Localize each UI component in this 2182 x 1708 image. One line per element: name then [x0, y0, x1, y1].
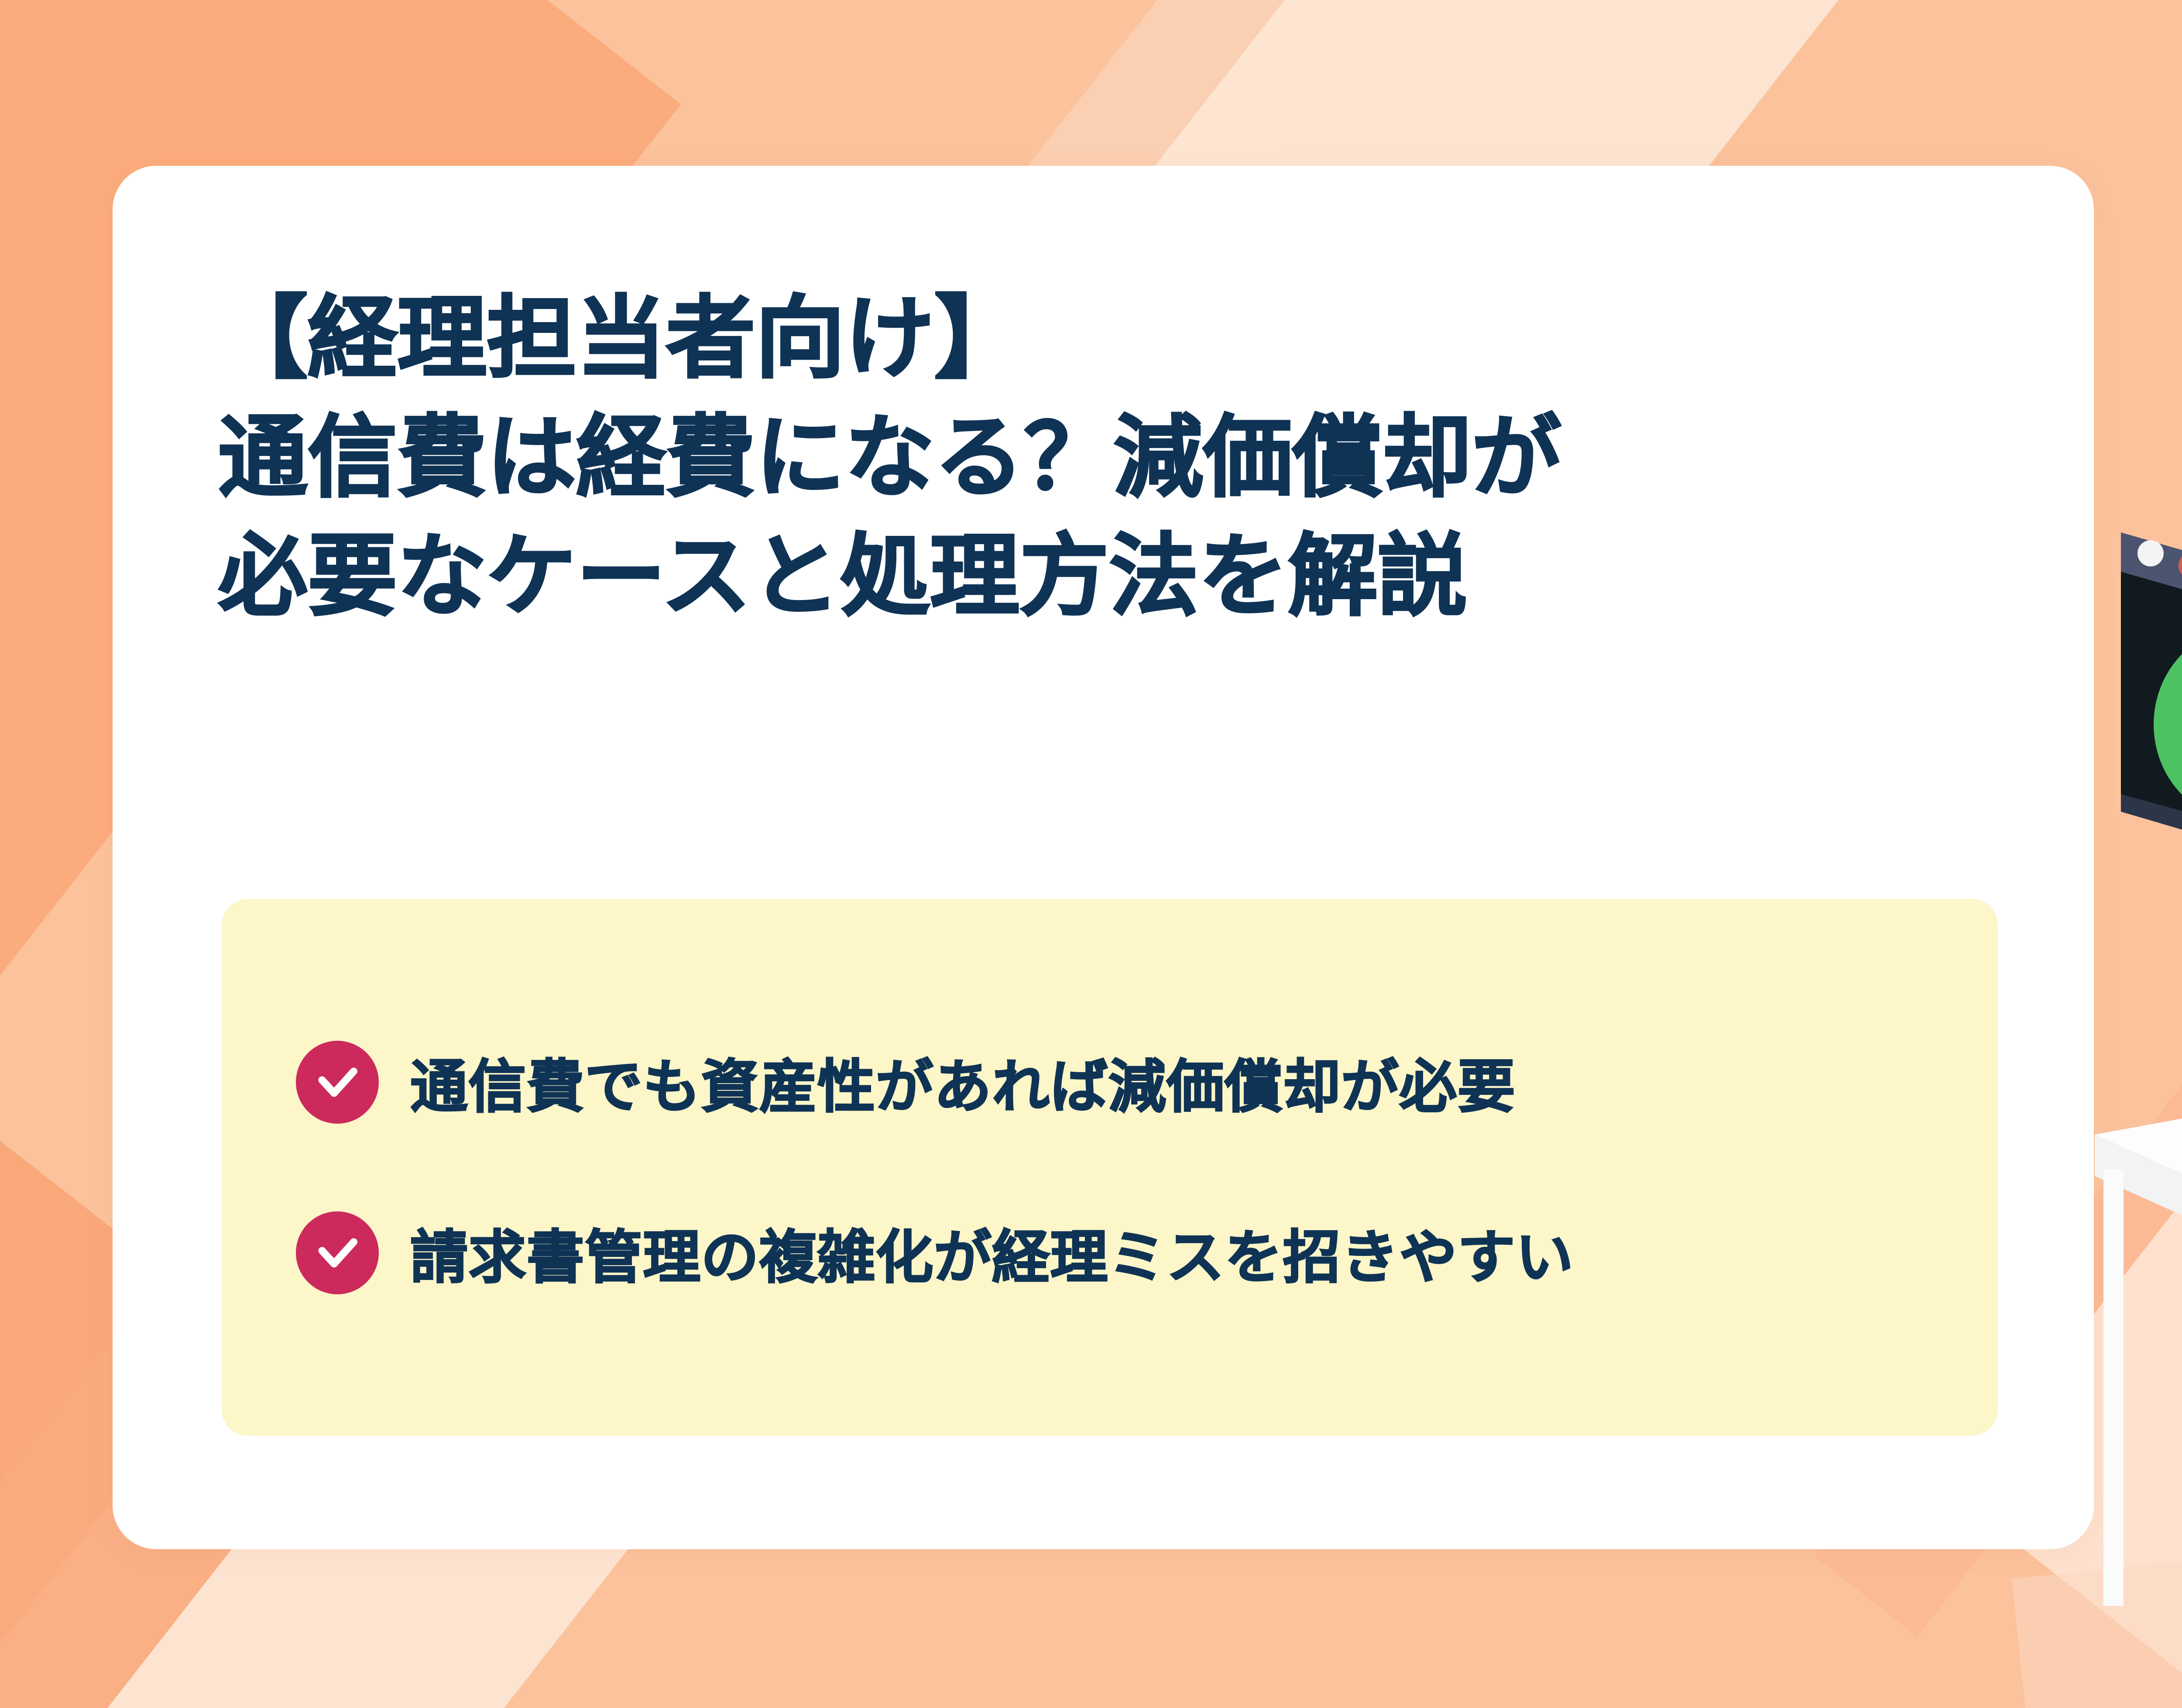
- title-line-1: 【経理担当者向け】: [218, 279, 1561, 398]
- browser-window-with-dollar-and-bar-chart: $: [2121, 532, 2182, 951]
- title-line-2: 通信費は経費になる？減価償却が: [218, 398, 1561, 518]
- list-item: 請求書管理の複雑化が経理ミスを招きやすい: [296, 1211, 1998, 1294]
- list-item-label: 通信費でも資産性があれば減価償却が必要: [410, 1040, 1516, 1124]
- desk: [2095, 1025, 2182, 1693]
- person-working-at-desk-with-cloud-upload-illustration: $: [2077, 131, 2182, 1708]
- check-circle-icon: [296, 1041, 379, 1124]
- key-points-panel: 通信費でも資産性があれば減価償却が必要 請求書管理の複雑化が経理ミスを招きやすい: [222, 899, 1998, 1436]
- page-title: 【経理担当者向け】 通信費は経費になる？減価償却が 必要なケースと処理方法を解説: [218, 279, 1561, 636]
- list-item-label: 請求書管理の複雑化が経理ミスを招きやすい: [410, 1211, 1574, 1294]
- list-item: 通信費でも資産性があれば減価償却が必要: [296, 1040, 1998, 1124]
- check-circle-icon: [296, 1211, 379, 1294]
- title-line-3: 必要なケースと処理方法を解説: [218, 517, 1561, 636]
